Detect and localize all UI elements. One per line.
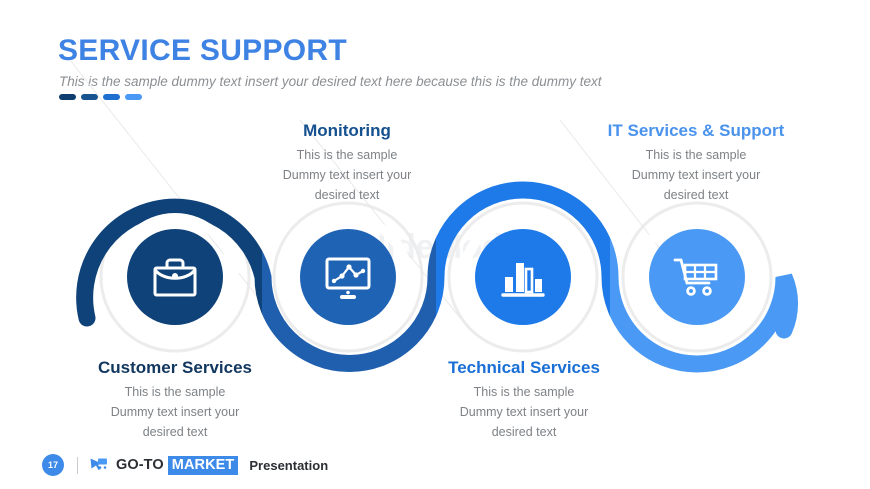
caption-line-3: desired text xyxy=(409,422,639,442)
page-subtitle: This is the sample dummy text insert you… xyxy=(59,73,818,91)
slide-footer: 17 GO-TO MARKET Presentation xyxy=(42,452,328,478)
footer-label: Presentation xyxy=(249,458,328,473)
caption-title-technical-services: Technical Services xyxy=(409,357,639,379)
footer-divider xyxy=(77,457,78,474)
caption-monitoring: Monitoring This is the sample Dummy text… xyxy=(232,120,462,205)
caption-line-3: desired text xyxy=(581,185,811,205)
bar-chart-icon xyxy=(499,255,547,299)
brand-name-primary: GO-TO xyxy=(116,457,164,473)
caption-it-services-support: IT Services & Support This is the sample… xyxy=(581,120,811,205)
shopping-cart-icon xyxy=(672,255,722,299)
caption-title-monitoring: Monitoring xyxy=(232,120,462,142)
caption-line-1: This is the sample xyxy=(60,382,290,402)
caption-line-1: This is the sample xyxy=(581,145,811,165)
caption-title-customer-services: Customer Services xyxy=(60,357,290,379)
monitor-chart-icon xyxy=(322,254,374,300)
page-title: SERVICE SUPPORT xyxy=(58,34,818,68)
caption-customer-services: Customer Services This is the sample Dum… xyxy=(60,357,290,442)
accent-dash-3 xyxy=(103,94,120,100)
brand-name-secondary: MARKET xyxy=(168,456,239,475)
caption-line-2: Dummy text insert your xyxy=(60,402,290,422)
accent-dash-2 xyxy=(81,94,98,100)
caption-line-1: This is the sample xyxy=(232,145,462,165)
caption-line-2: Dummy text insert your xyxy=(409,402,639,422)
caption-technical-services: Technical Services This is the sample Du… xyxy=(409,357,639,442)
caption-title-it-services: IT Services & Support xyxy=(581,120,811,142)
accent-dash-1 xyxy=(59,94,76,100)
caption-line-2: Dummy text insert your xyxy=(581,165,811,185)
accent-dashes xyxy=(59,94,142,100)
page-number-badge: 17 xyxy=(42,454,64,476)
cart-cursor-icon xyxy=(89,457,109,474)
caption-line-2: Dummy text insert your xyxy=(232,165,462,185)
slide-header: SERVICE SUPPORT This is the sample dummy… xyxy=(58,34,818,91)
node-technical-services[interactable] xyxy=(475,229,571,325)
node-monitoring[interactable] xyxy=(300,229,396,325)
caption-line-1: This is the sample xyxy=(409,382,639,402)
accent-dash-4 xyxy=(125,94,142,100)
node-it-services-support[interactable] xyxy=(649,229,745,325)
caption-line-3: desired text xyxy=(232,185,462,205)
node-customer-services[interactable] xyxy=(127,229,223,325)
slide-canvas: SERVICE SUPPORT This is the sample dummy… xyxy=(0,0,870,489)
caption-line-3: desired text xyxy=(60,422,290,442)
briefcase-icon xyxy=(150,255,200,299)
